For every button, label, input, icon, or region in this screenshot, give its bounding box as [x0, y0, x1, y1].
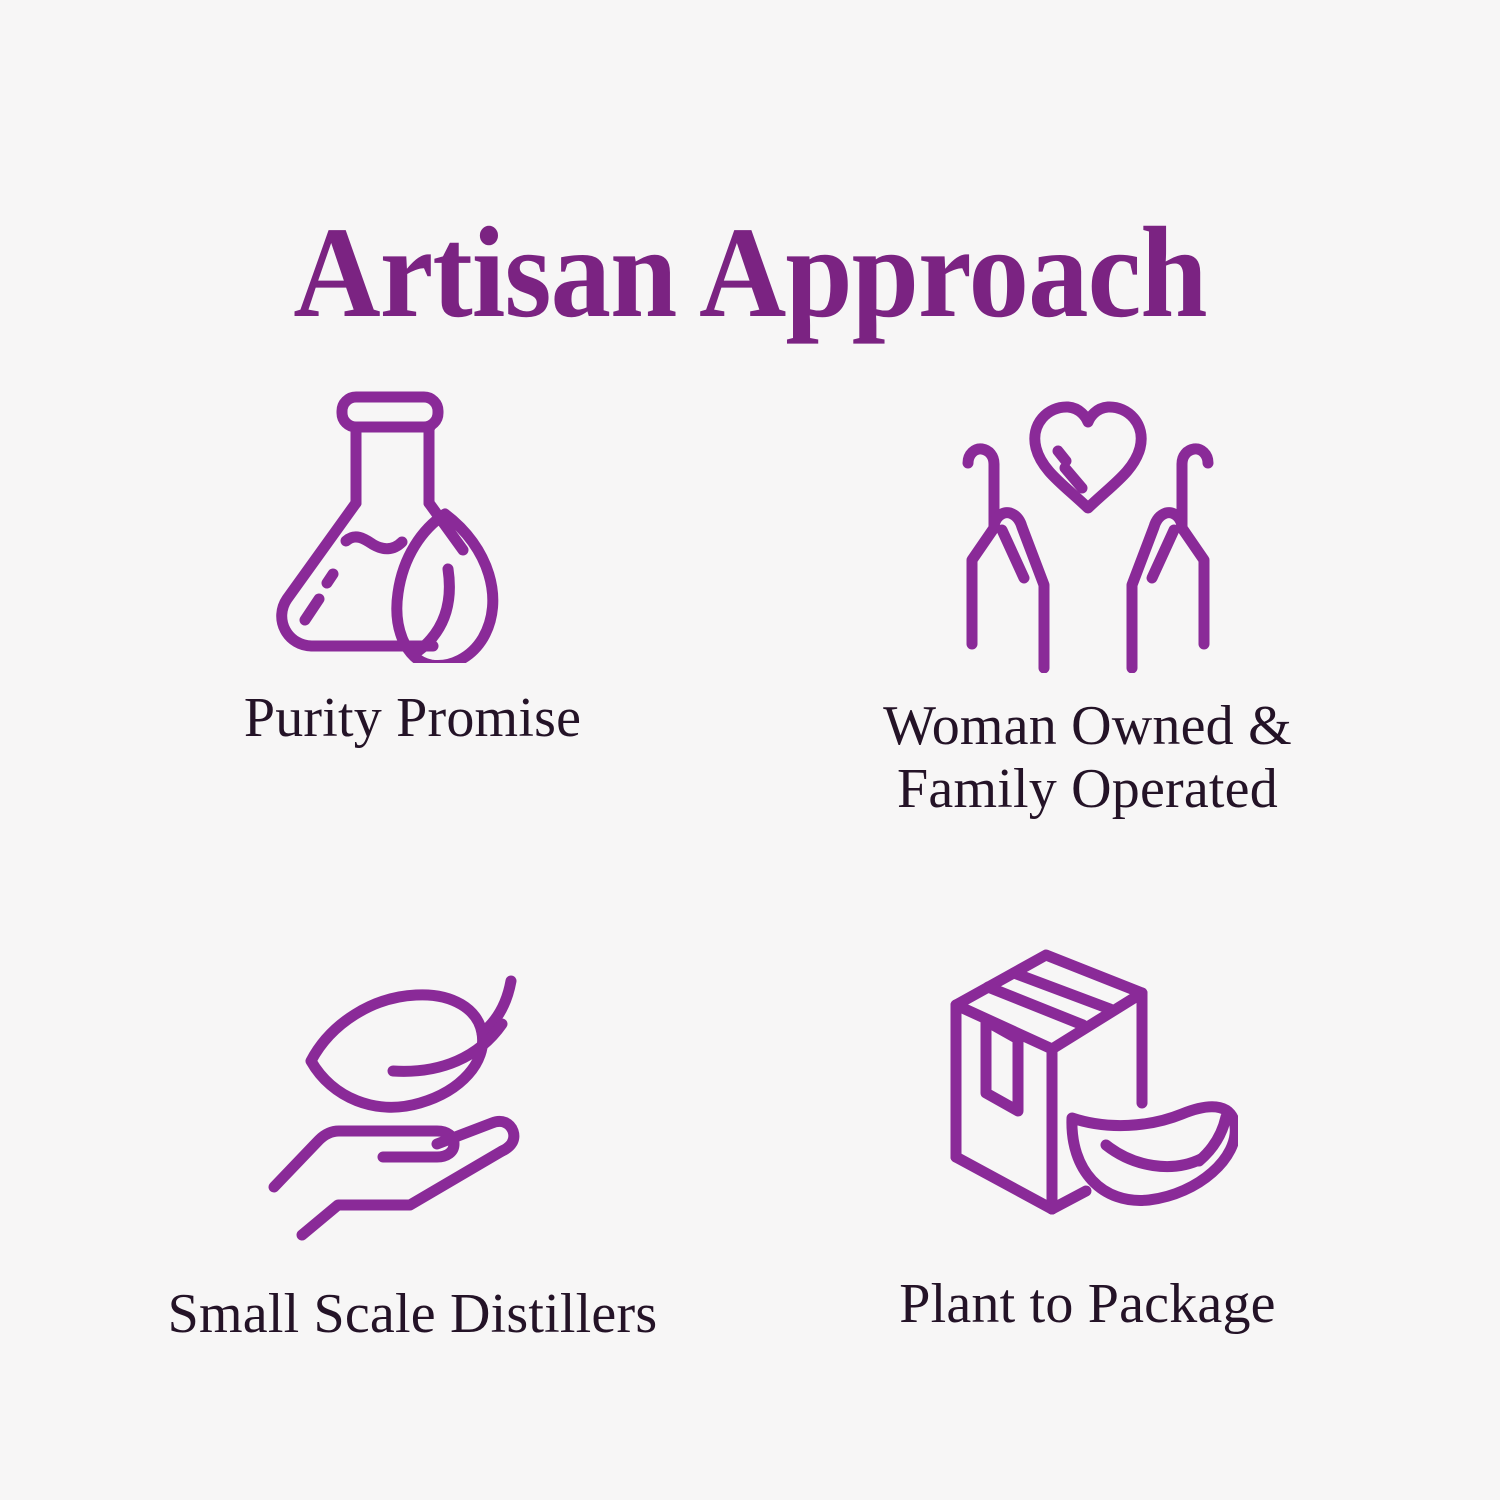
page-title: Artisan Approach — [53, 205, 1448, 342]
feature-grid: Purity Promise — [75, 355, 1425, 1415]
hands-heart-icon — [938, 373, 1238, 673]
flask-leaf-icon — [263, 363, 563, 663]
feature-item-woman-owned: Woman Owned & Family Operated — [750, 355, 1425, 885]
feature-label: Woman Owned & Family Operated — [883, 695, 1292, 822]
feature-label: Purity Promise — [244, 687, 581, 750]
artisan-approach-panel: Artisan Approach — [0, 0, 1500, 1500]
package-leaf-icon — [938, 933, 1238, 1233]
leaf-in-hand-icon — [263, 943, 563, 1243]
feature-item-small-scale-distillers: Small Scale Distillers — [75, 885, 750, 1415]
feature-label: Small Scale Distillers — [168, 1283, 658, 1346]
feature-item-plant-to-package: Plant to Package — [750, 885, 1425, 1415]
feature-item-purity-promise: Purity Promise — [75, 355, 750, 885]
feature-label: Plant to Package — [899, 1273, 1275, 1336]
